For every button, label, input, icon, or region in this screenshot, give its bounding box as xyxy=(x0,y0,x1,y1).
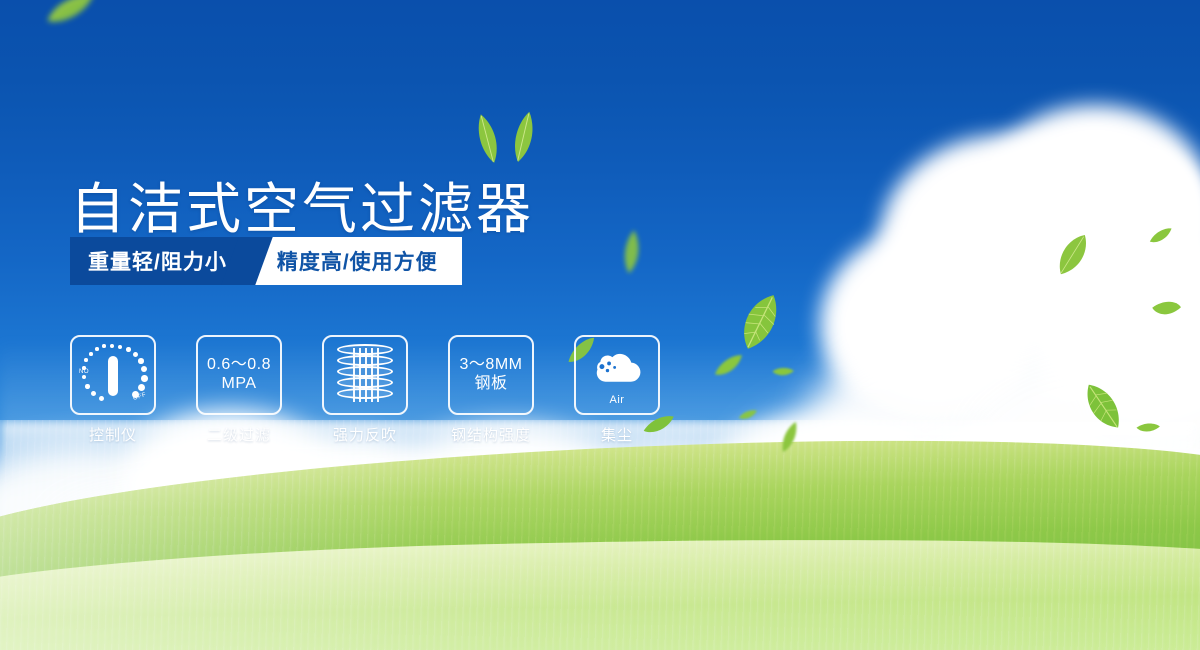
feature-item-pressure[interactable]: 0.6〜0.8 MPA 二级过滤 xyxy=(196,335,282,445)
feature-icon-box: NO OFF xyxy=(70,335,156,415)
subtitle-bar: 重量轻/阻力小 精度高/使用方便 xyxy=(70,237,462,285)
gauge-icon: NO OFF xyxy=(80,344,146,406)
subtitle-left-tag: 重量轻/阻力小 xyxy=(70,237,247,285)
air-cloud-icon: Air xyxy=(584,346,650,404)
page-title: 自洁式空气过滤器 xyxy=(70,182,534,237)
feature-list: NO OFF 控制仪 0.6〜0.8 MPA 二级过滤 xyxy=(70,335,660,445)
promo-banner: 自洁式空气过滤器 重量轻/阻力小 精度高/使用方便 xyxy=(0,0,1200,650)
feature-item-dust[interactable]: Air 集尘 xyxy=(574,335,660,445)
feature-icon-box: 3〜8MM 钢板 xyxy=(448,335,534,415)
banner-content: 自洁式空气过滤器 重量轻/阻力小 精度高/使用方便 xyxy=(0,0,1200,650)
steel-text-icon: 3〜8MM 钢板 xyxy=(460,356,523,394)
feature-label: 二级过滤 xyxy=(196,424,282,445)
feature-icon-box: 0.6〜0.8 MPA xyxy=(196,335,282,415)
filter-discs-icon xyxy=(337,344,393,406)
feature-item-steel[interactable]: 3〜8MM 钢板 钢结构强度 xyxy=(448,335,534,445)
feature-item-blowback[interactable]: 强力反吹 xyxy=(322,335,408,445)
pressure-text-icon: 0.6〜0.8 MPA xyxy=(207,356,271,394)
feature-icon-box xyxy=(322,335,408,415)
feature-label: 集尘 xyxy=(574,424,660,445)
feature-label: 钢结构强度 xyxy=(448,424,534,445)
feature-label: 控制仪 xyxy=(70,424,156,445)
subtitle-right-tag: 精度高/使用方便 xyxy=(247,237,462,285)
feature-label: 强力反吹 xyxy=(322,424,408,445)
gauge-on-label: NO xyxy=(79,369,89,375)
feature-icon-box: Air xyxy=(574,335,660,415)
feature-item-controller[interactable]: NO OFF 控制仪 xyxy=(70,335,156,445)
air-label: Air xyxy=(584,394,650,406)
